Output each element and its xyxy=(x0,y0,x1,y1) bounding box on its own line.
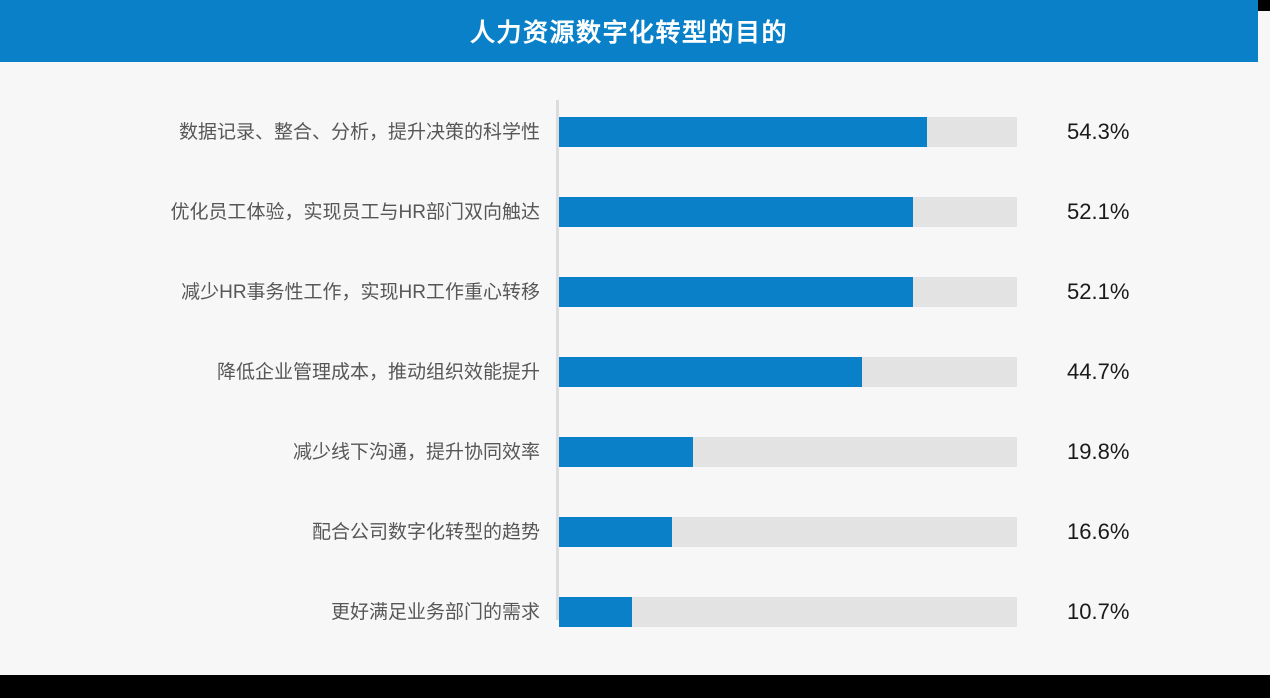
bar-track xyxy=(559,277,1017,307)
bar-value-label: 19.8% xyxy=(1067,434,1177,470)
bar-row-list: 数据记录、整合、分析，提升决策的科学性54.3%优化员工体验，实现员工与HR部门… xyxy=(0,62,1270,675)
bar-chart: 数据记录、整合、分析，提升决策的科学性54.3%优化员工体验，实现员工与HR部门… xyxy=(0,62,1270,675)
bar-value-label: 52.1% xyxy=(1067,274,1177,310)
bar-fill xyxy=(559,197,913,227)
bar-row: 减少线下沟通，提升协同效率19.8% xyxy=(0,434,1270,470)
corner-marker xyxy=(1258,0,1270,11)
bar-track xyxy=(559,117,1017,147)
footer-band xyxy=(0,675,1270,698)
bar-track xyxy=(559,597,1017,627)
page-title: 人力资源数字化转型的目的 xyxy=(0,0,1258,62)
bar-row: 降低企业管理成本，推动组织效能提升44.7% xyxy=(0,354,1270,390)
bar-category-label: 优化员工体验，实现员工与HR部门双向触达 xyxy=(60,194,540,230)
bar-row: 数据记录、整合、分析，提升决策的科学性54.3% xyxy=(0,114,1270,150)
bar-value-label: 16.6% xyxy=(1067,514,1177,550)
bar-category-label: 减少线下沟通，提升协同效率 xyxy=(60,434,540,470)
bar-row: 更好满足业务部门的需求10.7% xyxy=(0,594,1270,630)
bar-value-label: 54.3% xyxy=(1067,114,1177,150)
bar-row: 减少HR事务性工作，实现HR工作重心转移52.1% xyxy=(0,274,1270,310)
bar-value-label: 10.7% xyxy=(1067,594,1177,630)
bar-track xyxy=(559,517,1017,547)
bar-fill xyxy=(559,597,632,627)
slide-page: 人力资源数字化转型的目的 数据记录、整合、分析，提升决策的科学性54.3%优化员… xyxy=(0,0,1270,698)
bar-category-label: 降低企业管理成本，推动组织效能提升 xyxy=(60,354,540,390)
bar-track xyxy=(559,437,1017,467)
bar-value-label: 44.7% xyxy=(1067,354,1177,390)
bar-track xyxy=(559,197,1017,227)
bar-fill xyxy=(559,517,672,547)
bar-row: 优化员工体验，实现员工与HR部门双向触达52.1% xyxy=(0,194,1270,230)
bar-track xyxy=(559,357,1017,387)
bar-fill xyxy=(559,117,927,147)
bar-category-label: 数据记录、整合、分析，提升决策的科学性 xyxy=(60,114,540,150)
bar-category-label: 更好满足业务部门的需求 xyxy=(60,594,540,630)
bar-value-label: 52.1% xyxy=(1067,194,1177,230)
bar-category-label: 配合公司数字化转型的趋势 xyxy=(60,514,540,550)
bar-category-label: 减少HR事务性工作，实现HR工作重心转移 xyxy=(60,274,540,310)
bar-row: 配合公司数字化转型的趋势16.6% xyxy=(0,514,1270,550)
bar-fill xyxy=(559,357,862,387)
bar-fill xyxy=(559,437,693,467)
bar-fill xyxy=(559,277,913,307)
